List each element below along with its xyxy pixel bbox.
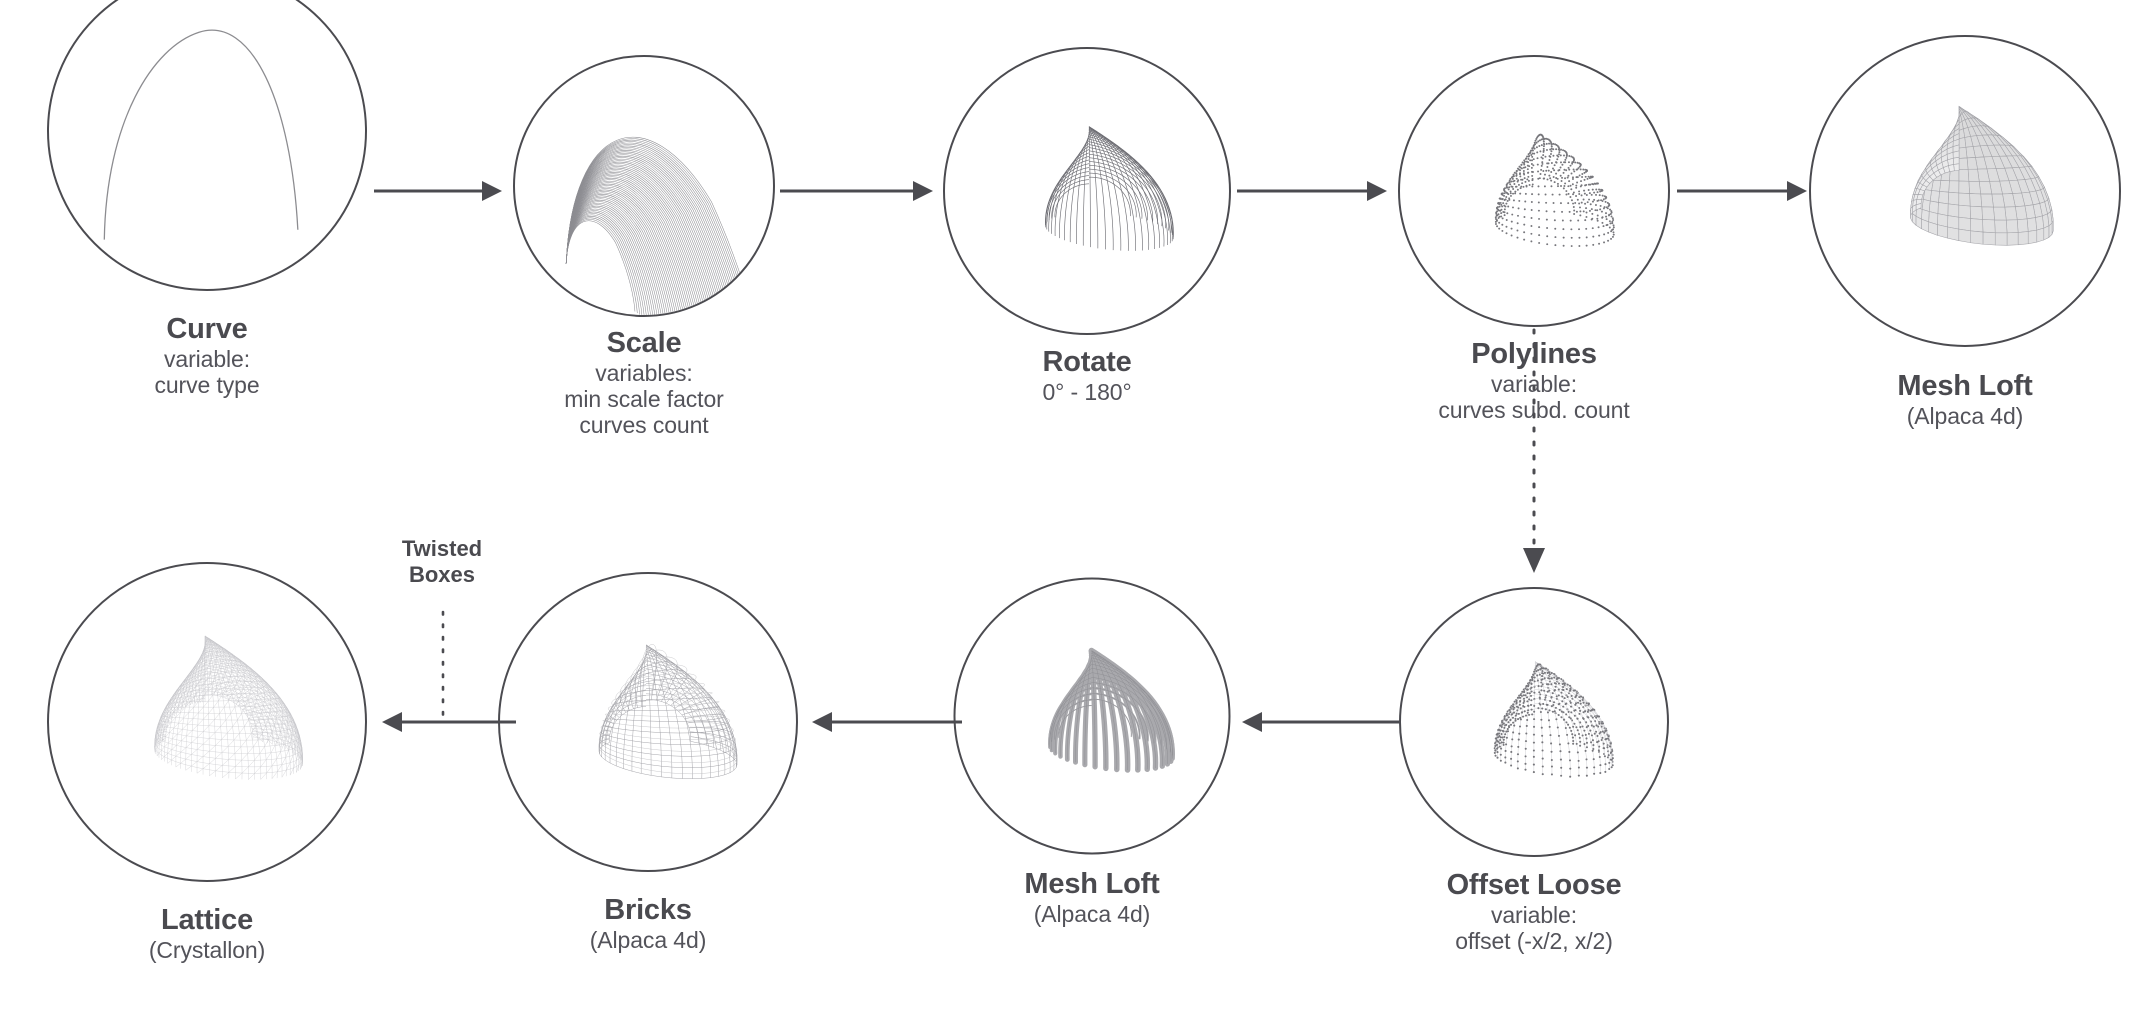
node-mesh-loft-bottom-labels: Mesh Loft (Alpaca 4d): [1024, 868, 1159, 927]
annotation-twisted-boxes-line-0: Twisted: [380, 536, 504, 562]
annotation-twisted-boxes: Twisted Boxes: [380, 536, 504, 587]
node-mesh-loft-top-labels: Mesh Loft (Alpaca 4d): [1897, 370, 2032, 429]
node-mesh-loft-bottom-title: Mesh Loft: [1024, 868, 1159, 901]
bricks-art: [500, 574, 796, 870]
scale-art: [515, 57, 773, 315]
node-scale-circle: [513, 55, 775, 317]
node-mesh-loft-top-title: Mesh Loft: [1897, 370, 2032, 403]
edge-polylines-to-offset-loose: [1519, 330, 1549, 580]
rotate-art: [945, 49, 1229, 333]
node-curve-sub-1: curve type: [154, 372, 259, 398]
node-scale-sub-2: curves count: [564, 412, 723, 438]
node-rotate-title: Rotate: [1042, 346, 1131, 379]
edge-offset-loose-to-mesh-loft-bottom: [1240, 707, 1400, 737]
polylines-art: [1400, 57, 1668, 325]
node-mesh-loft-top-circle: [1809, 35, 2121, 347]
node-lattice-sub-0: (Crystallon): [149, 937, 265, 963]
node-bricks-circle: [498, 572, 798, 872]
node-bricks-sub-0: (Alpaca 4d): [590, 927, 707, 953]
node-mesh-loft-bottom-circle: [954, 578, 1231, 855]
node-scale-sub-1: min scale factor: [564, 386, 723, 412]
node-scale-labels: Scale variables: min scale factor curves…: [564, 327, 723, 439]
node-bricks-title: Bricks: [590, 894, 707, 927]
node-offset-loose-labels: Offset Loose variable: offset (-x/2, x/2…: [1447, 869, 1622, 954]
edge-twisted-boxes-leader: [435, 612, 451, 724]
node-bricks-labels: Bricks (Alpaca 4d): [590, 894, 707, 953]
edge-polylines-to-mesh-loft-top: [1677, 176, 1809, 206]
node-mesh-loft-bottom-sub-0: (Alpaca 4d): [1024, 901, 1159, 927]
mesh-loft-bottom-art: [956, 580, 1229, 853]
node-lattice-labels: Lattice (Crystallon): [149, 904, 265, 963]
node-rotate-labels: Rotate 0° - 180°: [1042, 346, 1131, 405]
edge-mesh-loft-bottom-to-bricks: [810, 707, 962, 737]
node-rotate-circle: [943, 47, 1231, 335]
node-scale-title: Scale: [564, 327, 723, 360]
node-lattice-title: Lattice: [149, 904, 265, 937]
annotation-twisted-boxes-line-1: Boxes: [380, 562, 504, 588]
mesh-loft-top-art: [1811, 37, 2119, 345]
node-offset-loose-sub-1: offset (-x/2, x/2): [1447, 928, 1622, 954]
node-rotate-sub-0: 0° - 180°: [1042, 379, 1131, 405]
edge-curve-to-scale: [374, 176, 504, 206]
node-offset-loose-title: Offset Loose: [1447, 869, 1622, 902]
node-mesh-loft-top-sub-0: (Alpaca 4d): [1897, 403, 2032, 429]
node-scale-sub-0: variables:: [564, 360, 723, 386]
diagram-canvas: Curve variable: curve type Scale variabl…: [0, 0, 2137, 1024]
lattice-art: [49, 564, 365, 880]
node-offset-loose-circle: [1399, 587, 1669, 857]
curve-art: [49, 0, 365, 289]
edge-scale-to-rotate: [780, 176, 935, 206]
node-lattice-circle: [47, 562, 367, 882]
node-curve-sub-0: variable:: [154, 346, 259, 372]
node-offset-loose-sub-0: variable:: [1447, 902, 1622, 928]
node-polylines-circle: [1398, 55, 1670, 327]
edge-rotate-to-polylines: [1237, 176, 1389, 206]
node-curve-title: Curve: [154, 313, 259, 346]
node-curve-circle: [47, 0, 367, 291]
offset-loose-art: [1401, 589, 1667, 855]
node-curve-labels: Curve variable: curve type: [154, 313, 259, 398]
